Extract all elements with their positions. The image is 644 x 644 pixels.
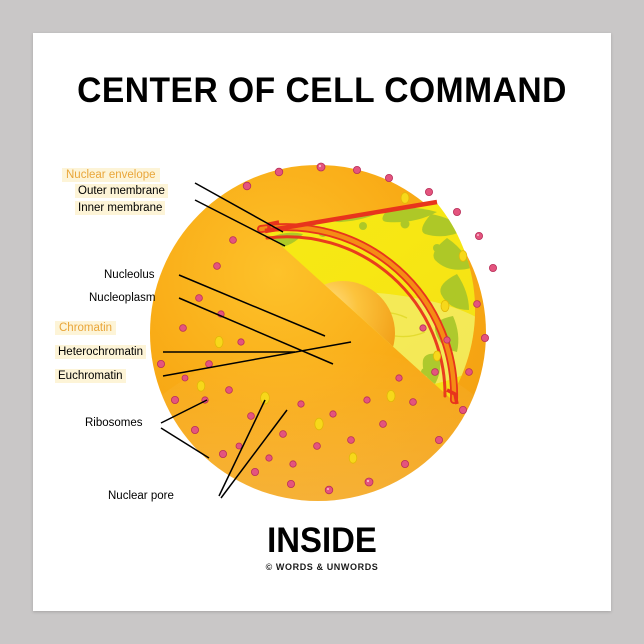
poster-footer: INSIDE © WORDS & UNWORDS — [33, 521, 611, 572]
footer-title: INSIDE — [50, 521, 593, 561]
label-ribosomes: Ribosomes — [85, 416, 143, 430]
page-title: CENTER OF CELL COMMAND — [45, 71, 600, 111]
label-inner-membrane: Inner membrane — [75, 201, 165, 215]
label-nucleoplasm: Nucleoplasm — [89, 291, 155, 305]
label-outer-membrane: Outer membrane — [75, 184, 168, 198]
label-chromatin: Chromatin — [55, 321, 116, 335]
label-nuclear-pore: Nuclear pore — [108, 489, 174, 503]
poster-canvas: CENTER OF CELL COMMAND — [33, 33, 611, 611]
label-nucleolus: Nucleolus — [104, 268, 155, 282]
label-heterochromatin: Heterochromatin — [55, 345, 146, 359]
footer-credit: © WORDS & UNWORDS — [33, 562, 611, 572]
nucleus-diagram: Nuclear envelope Outer membrane Inner me… — [33, 128, 611, 528]
label-nuclear-envelope: Nuclear envelope — [62, 168, 160, 182]
label-euchromatin: Euchromatin — [55, 369, 126, 383]
